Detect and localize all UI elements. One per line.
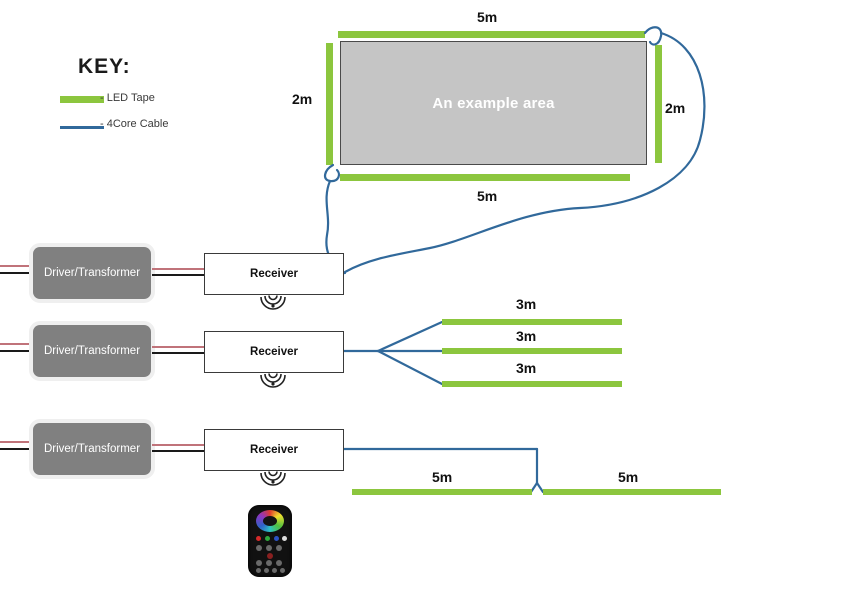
tape-segment-top xyxy=(338,31,645,38)
key-label-4core-cable: - 4Core Cable xyxy=(100,118,168,130)
tape-segment-right xyxy=(655,45,662,163)
cable-split-branch-up xyxy=(378,322,442,351)
wireless-dot-2 xyxy=(271,382,274,385)
wireless-signal-icon-3 xyxy=(255,469,291,489)
mains-neutral-wire-in-3 xyxy=(0,448,36,450)
tape-run-5m-right xyxy=(543,489,721,495)
run-label-3m-2: 3m xyxy=(516,328,536,344)
remote-button-r3c2[interactable] xyxy=(266,560,272,566)
remote-button-green[interactable] xyxy=(265,536,270,541)
receiver-1[interactable]: Receiver xyxy=(204,253,344,295)
tape-run-3m-3 xyxy=(442,381,622,387)
wireless-signal-icon-2 xyxy=(255,371,291,391)
mains-live-wire-out-3 xyxy=(152,444,205,446)
remote-button-red[interactable] xyxy=(256,536,261,541)
cable-hook-top-right xyxy=(645,27,661,44)
mains-neutral-wire-in-2 xyxy=(0,350,36,352)
tape-run-5m-left xyxy=(352,489,532,495)
mains-live-wire-in-3 xyxy=(0,441,36,443)
driver-transformer-1[interactable]: Driver/Transformer xyxy=(33,247,151,299)
key-title: KEY: xyxy=(78,55,131,79)
remote-button-r3c1[interactable] xyxy=(256,560,262,566)
receiver-label-3: Receiver xyxy=(250,444,298,456)
receiver-3[interactable]: Receiver xyxy=(204,429,344,471)
mains-live-wire-out-2 xyxy=(152,346,205,348)
tape-segment-left xyxy=(326,43,333,165)
key-label-led-tape: - LED Tape xyxy=(100,92,155,104)
remote-button-r2c3[interactable] xyxy=(276,545,282,551)
run-label-5m-left: 5m xyxy=(432,469,452,485)
remote-button-r4c3[interactable] xyxy=(272,568,277,573)
receiver-label-1: Receiver xyxy=(250,268,298,280)
dimension-right: 2m xyxy=(665,100,685,116)
mains-live-wire-out-1 xyxy=(152,268,205,270)
run-label-3m-1: 3m xyxy=(516,296,536,312)
mains-neutral-wire-out-1 xyxy=(152,274,205,276)
tape-segment-bottom xyxy=(340,174,630,181)
wireless-signal-icon-1 xyxy=(255,293,291,313)
colour-wheel-centre xyxy=(263,516,277,526)
cable-swatch xyxy=(60,126,104,129)
dimension-left: 2m xyxy=(292,91,312,107)
remote-button-r2c1[interactable] xyxy=(256,545,262,551)
example-area-label: An example area xyxy=(432,95,554,112)
tape-run-3m-2 xyxy=(442,348,622,354)
dimension-top: 5m xyxy=(477,9,497,25)
receiver-label-2: Receiver xyxy=(250,346,298,358)
cable-split-branch-down xyxy=(378,351,442,384)
driver-transformer-label-3: Driver/Transformer xyxy=(44,443,140,455)
cable-three-way-split xyxy=(342,322,442,384)
receiver-2[interactable]: Receiver xyxy=(204,331,344,373)
remote-button-blue[interactable] xyxy=(274,536,279,541)
remote-button-r4c2[interactable] xyxy=(264,568,269,573)
mains-live-wire-in-2 xyxy=(0,343,36,345)
cable-hook-bottom-left xyxy=(325,165,339,181)
mains-neutral-wire-out-2 xyxy=(152,352,205,354)
led-tape-swatch xyxy=(60,96,104,103)
run-label-5m-right: 5m xyxy=(618,469,638,485)
rgb-remote-control[interactable] xyxy=(248,505,292,577)
dimension-bottom: 5m xyxy=(477,188,497,204)
remote-button-power[interactable] xyxy=(267,553,273,559)
example-area-box: An example area xyxy=(340,41,647,165)
diagram-canvas: KEY: - LED Tape - 4Core Cable An example… xyxy=(0,0,842,595)
mains-live-wire-in-1 xyxy=(0,265,36,267)
remote-button-white[interactable] xyxy=(282,536,287,541)
remote-button-r4c4[interactable] xyxy=(280,568,285,573)
driver-transformer-label-2: Driver/Transformer xyxy=(44,345,140,357)
driver-transformer-2[interactable]: Driver/Transformer xyxy=(33,325,151,377)
driver-transformer-3[interactable]: Driver/Transformer xyxy=(33,423,151,475)
wireless-dot-3 xyxy=(271,480,274,483)
mains-neutral-wire-in-1 xyxy=(0,272,36,274)
driver-transformer-label-1: Driver/Transformer xyxy=(44,267,140,279)
wireless-dot-1 xyxy=(271,304,274,307)
run-label-3m-3: 3m xyxy=(516,360,536,376)
mains-neutral-wire-out-3 xyxy=(152,450,205,452)
remote-button-r3c3[interactable] xyxy=(276,560,282,566)
remote-button-r2c2[interactable] xyxy=(266,545,272,551)
tape-run-3m-1 xyxy=(442,319,622,325)
remote-button-r4c1[interactable] xyxy=(256,568,261,573)
